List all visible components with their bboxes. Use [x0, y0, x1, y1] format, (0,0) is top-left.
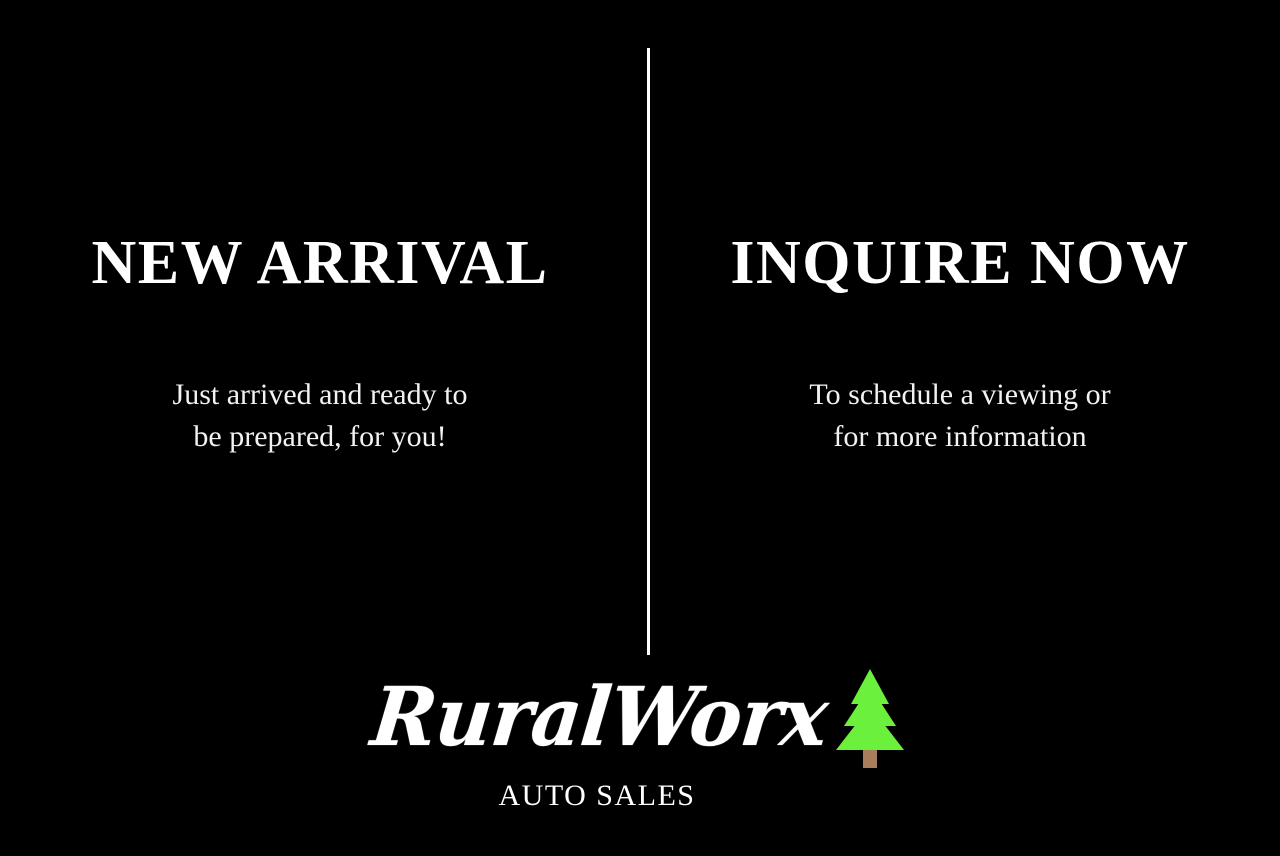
- panel-new-arrival: NEW ARRIVAL Just arrived and ready to be…: [0, 0, 640, 660]
- footer: RuralWorx AUTO SALES: [0, 660, 1280, 856]
- logo-wordmark-row: RuralWorx: [360, 660, 920, 776]
- logo-subtitle: AUTO SALES: [360, 778, 920, 814]
- brand-logo: RuralWorx AUTO SALES: [360, 660, 920, 830]
- panel-body-line-2: for more information: [640, 416, 1280, 458]
- panel-body-line-1: Just arrived and ready to: [0, 374, 640, 416]
- pine-tree-icon: [832, 666, 908, 770]
- panel-body-line-2: be prepared, for you!: [0, 416, 640, 458]
- panel-inquire-now: INQUIRE NOW To schedule a viewing or for…: [640, 0, 1280, 660]
- panel-heading-new-arrival: NEW ARRIVAL: [0, 228, 640, 298]
- panel-heading-inquire-now: INQUIRE NOW: [640, 228, 1280, 298]
- logo-wordmark: RuralWorx: [366, 664, 832, 772]
- panel-body-new-arrival: Just arrived and ready to be prepared, f…: [0, 374, 640, 458]
- panel-body-line-1: To schedule a viewing or: [640, 374, 1280, 416]
- panels-container: NEW ARRIVAL Just arrived and ready to be…: [0, 0, 1280, 660]
- promo-banner: NEW ARRIVAL Just arrived and ready to be…: [0, 0, 1280, 856]
- panel-body-inquire-now: To schedule a viewing or for more inform…: [640, 374, 1280, 458]
